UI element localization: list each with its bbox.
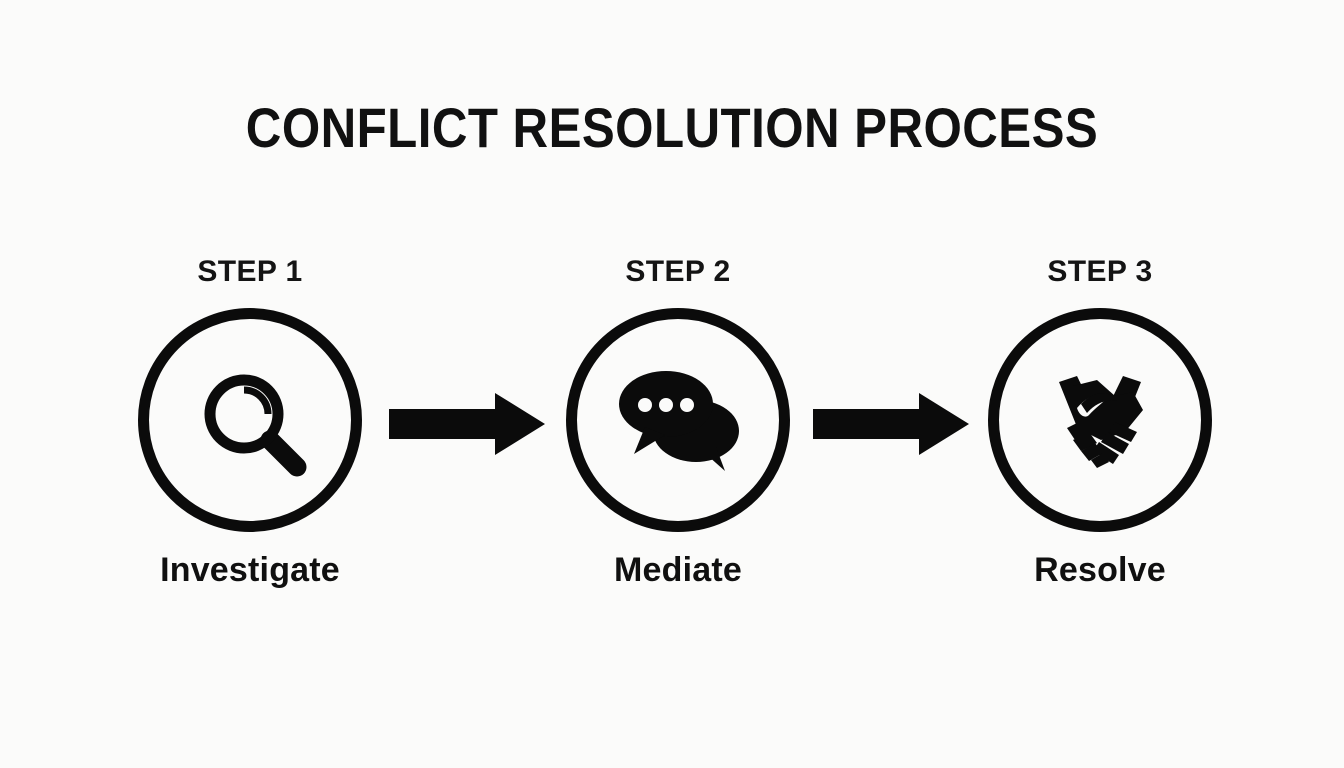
step-2-icon-wrap — [566, 308, 790, 532]
handshake-icon — [1037, 370, 1163, 470]
step-item-1: STEP 1 Investigate — [100, 255, 400, 605]
step-item-2: STEP 2 — [528, 255, 828, 605]
step-2-name: Mediate — [528, 551, 828, 589]
step-item-3: STEP 3 — [950, 255, 1250, 605]
step-2-label: STEP 2 — [528, 255, 828, 289]
steps-row: STEP 1 Investigate STEP 2 — [0, 0, 1344, 768]
step-3-name: Resolve — [950, 551, 1250, 589]
step-3-label: STEP 3 — [950, 255, 1250, 289]
conflict-resolution-infographic: CONFLICT RESOLUTION PROCESS STEP 1 — [0, 0, 1344, 768]
magnifying-glass-icon — [184, 354, 316, 486]
step-1-icon-wrap — [138, 308, 362, 532]
step-1-label: STEP 1 — [100, 255, 400, 289]
arrow-step2-to-step3 — [813, 393, 969, 455]
step-1-name: Investigate — [100, 551, 400, 589]
arrow-step1-to-step2 — [389, 393, 545, 455]
speech-bubbles-icon — [612, 359, 744, 481]
step-3-icon-wrap — [988, 308, 1212, 532]
